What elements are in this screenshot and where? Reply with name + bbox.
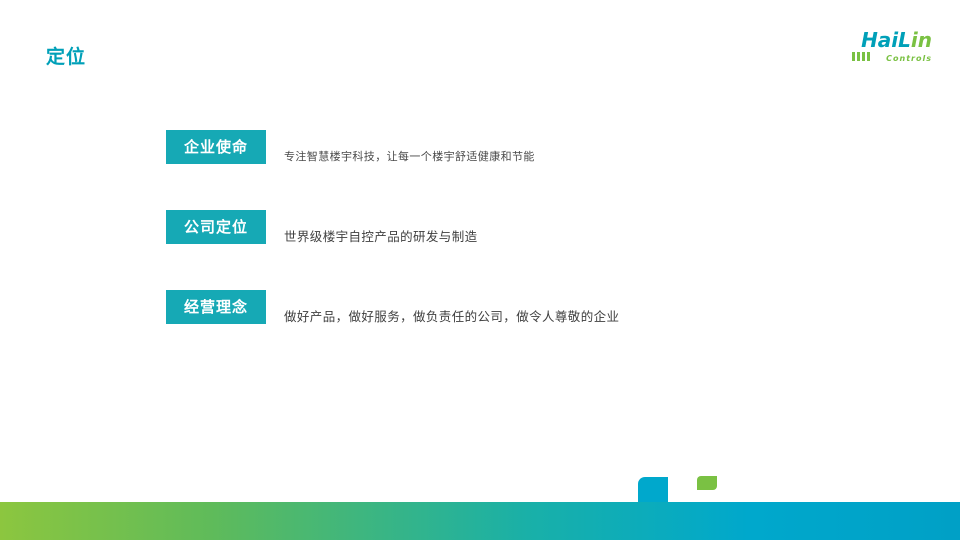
list-item: 企业使命 专注智慧楼宇科技，让每一个楼宇舒适健康和节能 [166, 130, 866, 210]
row-text-positioning: 世界级楼宇自控产品的研发与制造 [284, 226, 478, 245]
content-rows: 企业使命 专注智慧楼宇科技，让每一个楼宇舒适健康和节能 公司定位 世界级楼宇自控… [166, 130, 866, 370]
row-text-mission: 专注智慧楼宇科技，让每一个楼宇舒适健康和节能 [284, 148, 535, 164]
footer-gradient-bar [0, 502, 960, 540]
row-tag-philosophy: 经营理念 [166, 290, 266, 324]
slide: 定位 HaiLin Controls 企业使命 专注智慧楼宇科技，让每一个楼宇舒… [0, 0, 960, 540]
decoration-square-green [697, 476, 717, 490]
logo-wordmark-primary: HaiL [861, 28, 911, 52]
list-item: 公司定位 世界级楼宇自控产品的研发与制造 [166, 210, 866, 290]
row-tag-positioning: 公司定位 [166, 210, 266, 244]
logo-wordmark-secondary: in [911, 28, 932, 52]
page-title: 定位 [46, 42, 86, 69]
logo-subtitle: Controls [886, 54, 932, 63]
row-text-philosophy: 做好产品，做好服务，做负责任的公司，做令人尊敬的企业 [284, 306, 619, 325]
row-tag-mission: 企业使命 [166, 130, 266, 164]
logo-bars-icon [852, 52, 870, 61]
logo-wordmark: HaiLin [861, 30, 932, 50]
list-item: 经营理念 做好产品，做好服务，做负责任的公司，做令人尊敬的企业 [166, 290, 866, 370]
decoration-square-large [638, 477, 668, 502]
logo: HaiLin Controls [837, 30, 932, 70]
